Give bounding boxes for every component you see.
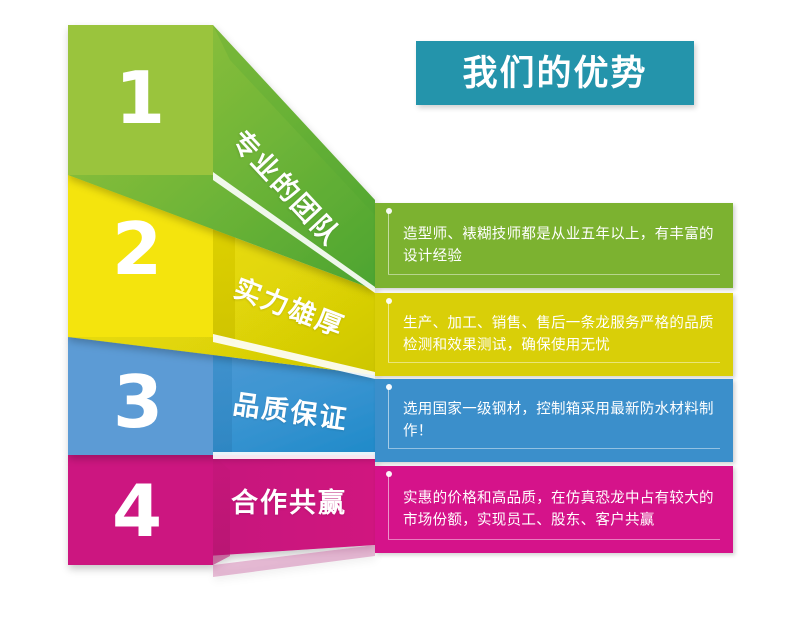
description-text-1: 造型师、裱糊技师都是从业五年以上，有丰富的设计经验 — [403, 223, 717, 268]
step-number-4: 4 — [112, 475, 162, 547]
description-text-4: 实惠的价格和高品质，在仿真恐龙中占有较大的市场份额，实现员工、股东、客户共赢 — [403, 487, 717, 532]
panel-underline-3 — [388, 448, 720, 449]
description-text-3: 选用国家一级钢材，控制箱采用最新防水材料制作！ — [403, 398, 717, 443]
pin-marker-icon — [388, 211, 389, 274]
step-number-3: 3 — [113, 366, 163, 438]
pin-marker-icon — [388, 301, 389, 362]
page-title: 我们的优势 — [462, 56, 647, 91]
description-panel-3: 选用国家一级钢材，控制箱采用最新防水材料制作！ — [375, 379, 733, 462]
description-panel-2: 生产、加工、销售、售后一条龙服务严格的品质检测和效果测试，确保使用无忧 — [375, 293, 733, 376]
infographic-canvas: 1 2 3 4 专业的团队 实力雄厚 品质保证 合作共赢 我们的优势 造型师、裱… — [0, 0, 800, 622]
description-panel-4: 实惠的价格和高品质，在仿真恐龙中占有较大的市场份额，实现员工、股东、客户共赢 — [375, 466, 733, 553]
pin-marker-icon — [388, 474, 389, 539]
description-text-2: 生产、加工、销售、售后一条龙服务严格的品质检测和效果测试，确保使用无忧 — [403, 312, 717, 357]
title-banner: 我们的优势 — [416, 41, 694, 105]
step-number-2: 2 — [112, 213, 162, 285]
pin-marker-icon — [388, 387, 389, 448]
description-panel-1: 造型师、裱糊技师都是从业五年以上，有丰富的设计经验 — [375, 203, 733, 288]
panel-underline-4 — [388, 539, 720, 540]
panel-underline-1 — [388, 274, 720, 275]
panel-underline-2 — [388, 362, 720, 363]
step-number-1: 1 — [115, 62, 165, 134]
ribbon-label-4: 合作共赢 — [231, 490, 347, 517]
